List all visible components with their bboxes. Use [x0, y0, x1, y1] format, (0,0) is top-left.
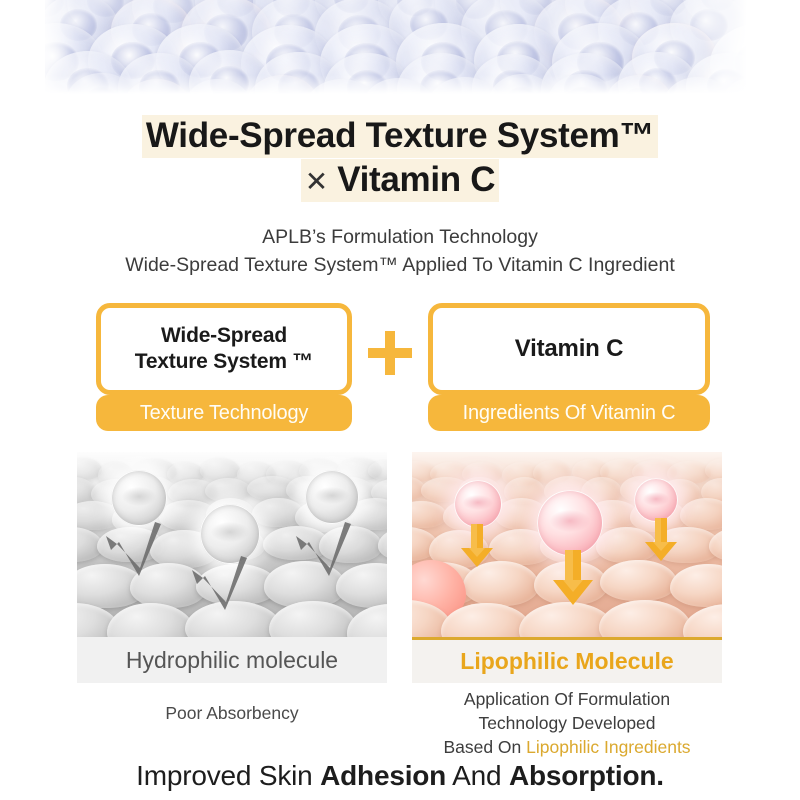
- header-capsule-banner-image: [45, 0, 758, 97]
- molecule-sphere-gray-3: [305, 470, 359, 524]
- badge-left-title-line1: Wide-Spread: [161, 324, 287, 347]
- title-text-secondary: ✕Vitamin C: [301, 159, 500, 202]
- plus-icon: [368, 331, 412, 375]
- infographic-page: Wide-Spread Texture System™ ✕Vitamin C A…: [0, 0, 800, 800]
- title-line-1: Wide-Spread Texture System™: [0, 116, 800, 155]
- hydrophilic-illustration: [77, 452, 387, 637]
- molecule-core: [122, 487, 157, 505]
- formula-equation-row: Wide-Spread Texture System ™ Texture Tec…: [0, 303, 800, 433]
- molecule-sphere-gray-1: [111, 470, 167, 526]
- multiply-icon: ✕: [305, 166, 337, 197]
- molecule-sphere-pink-2: [537, 490, 603, 556]
- absorb-arrow-orange-2: [552, 550, 594, 606]
- skin-cell: [600, 560, 676, 602]
- subcaption-line-3: Based On Lipophilic Ingredients: [400, 736, 734, 760]
- subcaption-line-3-highlight: Lipophilic Ingredients: [526, 737, 690, 757]
- title-vitamin-c: Vitamin C: [337, 160, 495, 199]
- subcaption-line-2: Technology Developed: [400, 712, 734, 736]
- badge-right-pill-label: Ingredients Of Vitamin C: [428, 395, 710, 431]
- caption-hydrophilic: Hydrophilic molecule: [77, 637, 387, 683]
- subcaption-line-1: Application Of Formulation: [400, 688, 734, 712]
- lipophilic-illustration: [412, 452, 722, 637]
- molecule-core: [211, 522, 248, 542]
- skin-cell: [680, 498, 722, 530]
- bounce-arrow-gray-3: [289, 520, 373, 580]
- badge-vitamin-c: Vitamin C: [428, 303, 710, 395]
- badge-left-title-line2: Texture System ™: [135, 350, 313, 373]
- title-line-2: ✕Vitamin C: [0, 160, 800, 199]
- subtitle: APLB’s Formulation Technology Wide-Sprea…: [0, 224, 800, 279]
- banner-bottom-fade: [45, 75, 758, 97]
- footer-bold-absorption: Absorption.: [509, 760, 664, 791]
- absorb-arrow-orange-1: [460, 524, 494, 568]
- badge-texture-technology: Wide-Spread Texture System ™: [96, 303, 352, 395]
- footer-headline: Improved Skin Adhesion And Absorption.: [0, 760, 800, 792]
- absorb-arrow-orange-3: [644, 518, 678, 562]
- badge-right-title: Vitamin C: [509, 334, 629, 363]
- badge-left-pill-label: Texture Technology: [96, 395, 352, 431]
- molecule-sphere-pink-1: [454, 480, 502, 528]
- molecule-core: [463, 495, 492, 511]
- subcaption-formulation: Application Of Formulation Technology De…: [400, 688, 734, 759]
- footer-part-2: And: [446, 760, 509, 791]
- plus-icon-vertical: [385, 331, 395, 375]
- molecule-core: [550, 510, 591, 532]
- subcaption-poor-absorbency: Poor Absorbency: [77, 703, 387, 724]
- footer-part-1: Improved Skin: [136, 760, 320, 791]
- panel-hydrophilic: Hydrophilic molecule: [77, 452, 387, 683]
- caption-lipophilic: Lipophilic Molecule: [412, 637, 722, 683]
- bounce-arrow-gray-2: [185, 554, 269, 614]
- molecule-core: [643, 492, 670, 506]
- skin-cell: [200, 458, 241, 481]
- molecule-core: [315, 487, 348, 505]
- subtitle-line-2: Wide-Spread Texture System™ Applied To V…: [0, 252, 800, 280]
- title-text-primary: Wide-Spread Texture System™: [142, 115, 658, 158]
- molecule-sphere-pink-3: [634, 478, 678, 522]
- panel-lipophilic: Lipophilic Molecule: [412, 452, 722, 683]
- badge-left-title: Wide-Spread Texture System ™: [129, 323, 319, 374]
- subcaption-line-3-prefix: Based On: [443, 737, 526, 757]
- page-title: Wide-Spread Texture System™ ✕Vitamin C: [0, 116, 800, 199]
- subtitle-line-1: APLB’s Formulation Technology: [0, 224, 800, 252]
- footer-bold-adhesion: Adhesion: [320, 760, 446, 791]
- bounce-arrow-gray-1: [99, 520, 183, 580]
